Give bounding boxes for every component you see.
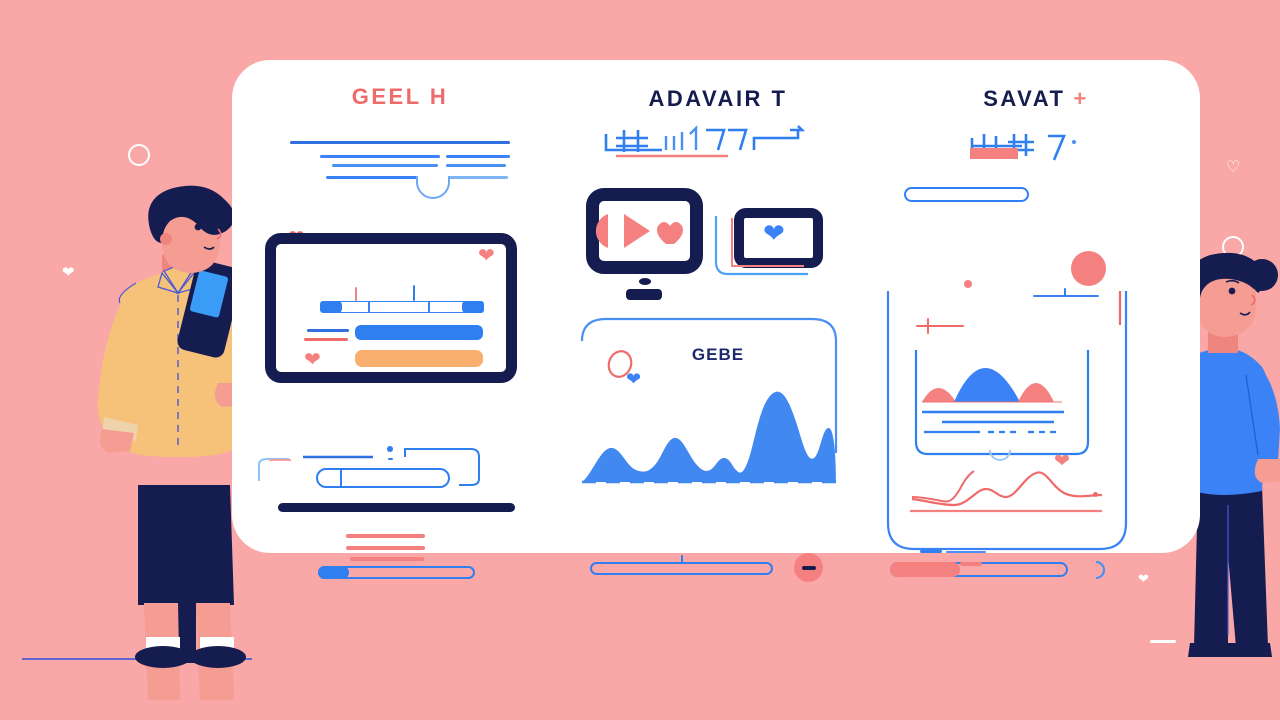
progress-marker bbox=[960, 562, 982, 566]
segmented-bar-fill-left bbox=[320, 301, 342, 313]
text-line bbox=[304, 338, 348, 341]
column-savat: SAVAT+ bbox=[886, 60, 1186, 553]
segmented-bar[interactable] bbox=[320, 301, 484, 313]
line-chart bbox=[906, 465, 1106, 521]
text-line bbox=[326, 176, 418, 179]
text-line bbox=[446, 164, 506, 167]
heart-icon: ❤ bbox=[478, 246, 495, 266]
column-3-title-text: SAVAT bbox=[983, 86, 1065, 111]
text-line bbox=[446, 155, 510, 158]
progress-bar-fill bbox=[890, 562, 960, 577]
text-line bbox=[307, 329, 349, 332]
search-field[interactable] bbox=[904, 187, 1029, 202]
primary-button[interactable] bbox=[355, 325, 483, 340]
text-line bbox=[320, 155, 440, 158]
text-line bbox=[332, 164, 438, 167]
label-line-dashed bbox=[920, 550, 942, 553]
notch-arc bbox=[415, 174, 451, 196]
abstract-glyph-row-icon bbox=[968, 130, 1098, 164]
column-3-title: SAVAT+ bbox=[886, 86, 1186, 112]
column-1-title: GEEL H bbox=[250, 84, 550, 110]
loading-arc-icon bbox=[1092, 560, 1112, 580]
column-2-title: ADAVAIR T bbox=[568, 86, 868, 112]
segmented-bar-fill-right bbox=[462, 301, 484, 313]
abstract-glyph-row-icon bbox=[602, 126, 814, 164]
heart-top-right-icon: ♡ bbox=[1226, 160, 1240, 176]
tv-stand-neck bbox=[639, 278, 651, 285]
pill-tick bbox=[681, 555, 683, 564]
hill-chart-card bbox=[912, 350, 1092, 460]
minus-icon bbox=[802, 566, 816, 570]
text-line bbox=[290, 141, 510, 144]
progress-bar-fill bbox=[318, 566, 349, 579]
segment-divider bbox=[368, 301, 370, 313]
column-geel-h: GEEL H ❤ ❤ ❤ bbox=[250, 60, 550, 553]
scene-root: ❤ ❤ ♡ ❤ bbox=[0, 0, 1280, 720]
secondary-button[interactable] bbox=[355, 350, 483, 367]
dashboard-card: GEEL H ❤ ❤ ❤ bbox=[232, 60, 1200, 553]
text-line-coral bbox=[350, 557, 424, 561]
text-line-coral bbox=[346, 546, 425, 550]
plus-icon: + bbox=[1073, 86, 1088, 111]
media-controls[interactable] bbox=[606, 210, 690, 252]
text-line bbox=[448, 176, 508, 179]
bottom-navy-bar bbox=[278, 503, 515, 512]
tv-stand-base bbox=[626, 289, 662, 300]
area-chart bbox=[578, 378, 840, 486]
keyboard-outline[interactable] bbox=[255, 443, 495, 493]
heart-bottom-right-icon: ❤ bbox=[1138, 572, 1149, 585]
mini-card-shadow-lines bbox=[712, 212, 822, 282]
circle-badge-coral bbox=[1071, 251, 1106, 286]
ring-top-left-icon bbox=[128, 144, 150, 166]
heart-icon: ❤ bbox=[304, 350, 321, 370]
column-adavair-t: ADAVAIR T ❤ bbox=[568, 60, 868, 553]
text-line-coral bbox=[346, 534, 425, 538]
segment-divider bbox=[428, 301, 430, 313]
